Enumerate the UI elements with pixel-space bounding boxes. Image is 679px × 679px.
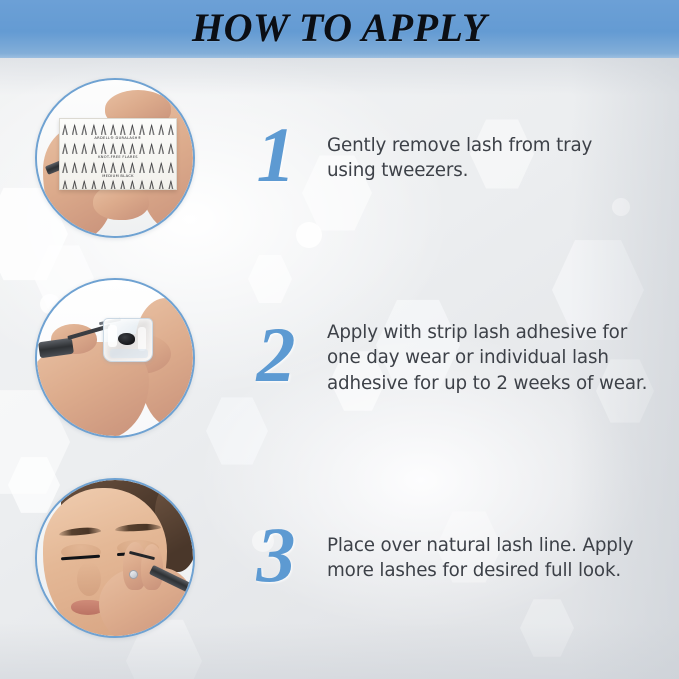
step-3-numeral: 3 [237,516,315,594]
step-3-photo-inner [37,480,193,636]
finger-ring [129,570,138,579]
step-1-photo-wrap: ARDELL® DURALASH® KNOT-FREE FLARES [35,78,195,238]
step-3-photo-circle [35,478,195,638]
step-1-line-1: Gently remove lash from tray [327,133,663,158]
how-to-apply-poster: HOW TO APPLY [0,0,679,679]
step-3-photo-wrap [35,478,195,638]
page-title: HOW TO APPLY [192,8,487,51]
lash-row [62,140,174,154]
step-row-1: ARDELL® DURALASH® KNOT-FREE FLARES [0,78,679,238]
step-2-text: Apply with strip lash adhesive for one d… [327,320,679,396]
step-2-numeral: 2 [237,316,315,394]
step-1-line-2: using tweezers. [327,158,663,183]
step-row-3: 3 Place over natural lash line. Apply mo… [0,478,679,638]
header-banner: HOW TO APPLY [0,0,679,58]
step-1-numeral: 1 [237,116,315,194]
lash-row [62,159,174,173]
step-2-photo-inner [37,280,193,436]
step-2-line-1: Apply with strip lash adhesive for [327,320,663,345]
step-1-photo-inner: ARDELL® DURALASH® KNOT-FREE FLARES [37,80,193,236]
step-1-text: Gently remove lash from tray using tweez… [327,133,679,184]
step-3-line-2: more lashes for desired full look. [327,558,663,583]
step-row-2: 2 Apply with strip lash adhesive for one… [0,278,679,438]
step-2-photo-wrap [35,278,195,438]
adhesive-container [103,318,153,362]
step-3-text: Place over natural lash line. Apply more… [327,533,679,584]
step-1-photo-circle: ARDELL® DURALASH® KNOT-FREE FLARES [35,78,195,238]
lash-row [62,177,174,190]
lash-tray: ARDELL® DURALASH® KNOT-FREE FLARES [59,118,177,190]
step-3-line-1: Place over natural lash line. Apply [327,533,663,558]
lash-row [62,121,174,135]
step-2-line-3: adhesive for up to 2 weeks of wear. [327,371,663,396]
adhesive-drop [118,333,135,345]
nose [77,562,101,596]
step-2-line-2: one day wear or individual lash [327,345,663,370]
step-2-photo-circle [35,278,195,438]
